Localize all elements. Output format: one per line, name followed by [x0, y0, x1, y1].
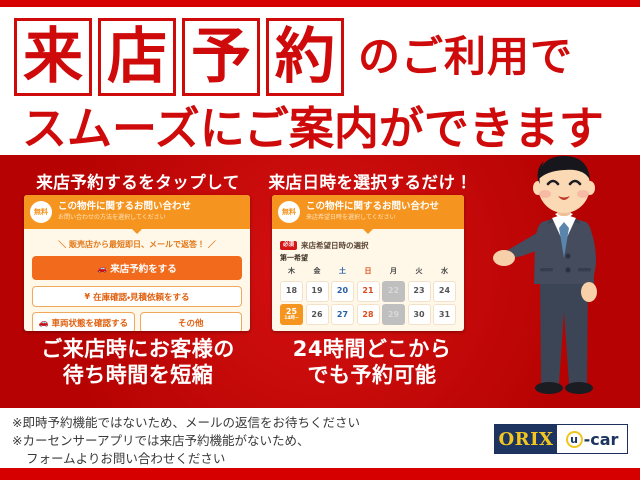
yen-icon: ¥	[85, 292, 91, 301]
mockup-body-left: ＼ 販売店から最短即日、メールで返答！ ／ 🚗 来店予約をする ¥ 在庫確認・見…	[24, 229, 250, 331]
required-badge: 必須	[280, 241, 297, 250]
kanji-box-1: 来	[14, 18, 92, 96]
calendar-day-number: 18	[286, 287, 297, 295]
calendar-day-number: 20	[337, 287, 348, 295]
headline-row-2: スムーズにご案内ができます	[22, 106, 604, 151]
mockup-header-main-left: この物件に関するお問い合わせ	[58, 202, 244, 213]
reserve-visit-button[interactable]: 🚗 来店予約をする	[32, 256, 242, 280]
right-caption-line-1: 24時間どこから	[262, 337, 482, 363]
calendar-day-number: 29	[388, 311, 399, 319]
note-line-2: ※カーセンサーアプリでは来店予約機能がないため、	[12, 432, 452, 450]
calendar-day-header: 土	[331, 266, 354, 278]
calendar-day-cell[interactable]: 19	[306, 281, 329, 302]
calendar-day-header: 日	[357, 266, 380, 278]
stock-quote-button[interactable]: ¥ 在庫確認・見積依頼をする	[32, 286, 242, 307]
calendar-day-cell[interactable]: 31	[433, 304, 456, 325]
calendar-day-number: 27	[337, 311, 348, 319]
right-caption-line-2: でも予約可能	[262, 363, 482, 389]
mockup-header-sub-left: お問い合わせの方法を選択してください	[58, 214, 244, 221]
salesman-illustration	[492, 152, 632, 408]
reply-lead-text: ＼ 販売店から最短即日、メールで返答！ ／	[32, 239, 242, 250]
calendar-day-header: 水	[433, 266, 456, 278]
calendar-mockup: 無料 この物件に関するお問い合わせ 来店希望日時を選択してください 必須 来店希…	[272, 195, 464, 331]
left-caption: ご来店時にお客様の 待ち時間を短縮	[8, 337, 268, 388]
calendar-day-number: 25	[286, 308, 297, 316]
salesman-svg	[492, 152, 632, 408]
left-caption-line-1: ご来店時にお客様の	[8, 337, 268, 363]
other-button[interactable]: その他	[140, 312, 243, 331]
headline-block: 来 店 予 約 のご利用で スムーズにご案内ができます	[0, 10, 640, 155]
mockup-header-right: 無料 この物件に関するお問い合わせ 来店希望日時を選択してください	[272, 195, 464, 229]
calendar-day-cell[interactable]: 20	[331, 281, 354, 302]
logo-u-circle-icon: u	[566, 431, 583, 448]
headline-tail-text: のご利用で	[358, 36, 573, 78]
calendar-day-number: 21	[362, 287, 373, 295]
calendar-day-cell[interactable]: 24	[433, 281, 456, 302]
ad-banner: 来 店 予 約 のご利用で スムーズにご案内ができます 来店予約するをタップして…	[0, 0, 640, 480]
left-column-title: 来店予約するをタップして	[14, 169, 262, 193]
calendar-grid: 木金土日月火水181920212223242514時~262728293031	[280, 266, 456, 325]
calendar-day-cell[interactable]: 23	[408, 281, 431, 302]
logo-orix-text: ORIX	[495, 425, 557, 453]
calendar-day-header: 木	[280, 266, 303, 278]
calendar-day-cell[interactable]: 28	[357, 304, 380, 325]
calendar-day-number: 22	[388, 287, 399, 295]
calendar-day-number: 23	[413, 287, 424, 295]
headline-row-1: 来 店 予 約 のご利用で	[14, 18, 573, 96]
calendar-day-cell[interactable]: 27	[331, 304, 354, 325]
calendar-day-time: 14時~	[284, 317, 299, 322]
mockup-header-text-right: この物件に関するお問い合わせ 来店希望日時を選択してください	[306, 202, 458, 221]
mockup-header-text-left: この物件に関するお問い合わせ お問い合わせの方法を選択してください	[58, 202, 244, 221]
right-column-title: 来店日時を選択するだけ！	[268, 169, 473, 193]
calendar-day-cell[interactable]: 18	[280, 281, 303, 302]
calendar-day-cell: 29	[382, 304, 405, 325]
disclaimer-notes: ※即時予約機能ではないため、メールの返信をお待ちください ※カーセンサーアプリで…	[12, 414, 452, 467]
left-caption-line-2: 待ち時間を短縮	[8, 363, 268, 389]
calendar-section-label-row: 必須 来店希望日時の選択	[280, 240, 456, 251]
calendar-day-cell[interactable]: 21	[357, 281, 380, 302]
kanji-box-2: 店	[98, 18, 176, 96]
car-icon: 🚗	[39, 318, 49, 327]
vehicle-condition-button[interactable]: 🚗 車両状態を確認する	[32, 312, 135, 331]
bottom-red-rule	[0, 468, 640, 480]
calendar-day-header: 金	[306, 266, 329, 278]
free-badge-right: 無料	[278, 201, 300, 223]
calendar-day-cell: 22	[382, 281, 405, 302]
logo-ucar-text: u-car	[557, 425, 627, 453]
calendar-day-header: 月	[382, 266, 405, 278]
mockup-header-sub-right: 来店希望日時を選択してください	[306, 214, 458, 221]
note-line-3: フォームよりお問い合わせください	[12, 450, 452, 468]
secondary-button-row: 🚗 車両状態を確認する その他	[32, 312, 242, 331]
inquiry-form-mockup: 無料 この物件に関するお問い合わせ お問い合わせの方法を選択してください ＼ 販…	[24, 195, 250, 331]
orix-ucar-logo: ORIX u-car	[494, 424, 628, 454]
calendar-section-label: 来店希望日時の選択	[301, 240, 369, 251]
car-icon: 🚗	[97, 264, 107, 273]
vehicle-condition-button-label: 車両状態を確認する	[51, 317, 128, 329]
mockup-header-left: 無料 この物件に関するお問い合わせ お問い合わせの方法を選択してください	[24, 195, 250, 229]
calendar-day-header: 火	[408, 266, 431, 278]
preference-label: 第一希望	[280, 253, 456, 263]
calendar-day-number: 26	[311, 311, 322, 319]
kanji-box-3: 予	[182, 18, 260, 96]
header-arrow-icon-left	[132, 229, 142, 234]
calendar-day-number: 24	[439, 287, 450, 295]
kanji-box-4: 約	[266, 18, 344, 96]
top-red-rule	[0, 0, 640, 7]
calendar-day-number: 31	[439, 311, 450, 319]
calendar-day-cell[interactable]: 26	[306, 304, 329, 325]
calendar-day-number: 30	[413, 311, 424, 319]
right-caption: 24時間どこから でも予約可能	[262, 337, 482, 388]
logo-car-text: -car	[584, 430, 619, 449]
calendar-day-selected[interactable]: 2514時~	[280, 304, 303, 325]
free-badge-left: 無料	[30, 201, 52, 223]
header-arrow-icon-right	[363, 229, 373, 234]
stock-quote-button-label: 在庫確認・見積依頼をする	[93, 291, 189, 303]
mockup-header-main-right: この物件に関するお問い合わせ	[306, 202, 458, 213]
calendar-day-number: 28	[362, 311, 373, 319]
calendar-day-cell[interactable]: 30	[408, 304, 431, 325]
calendar-day-number: 19	[311, 287, 322, 295]
mockup-body-right: 必須 来店希望日時の選択 第一希望 木金土日月火水181920212223242…	[272, 229, 464, 325]
note-line-1: ※即時予約機能ではないため、メールの返信をお待ちください	[12, 414, 452, 432]
reserve-visit-button-label: 来店予約をする	[110, 261, 177, 275]
